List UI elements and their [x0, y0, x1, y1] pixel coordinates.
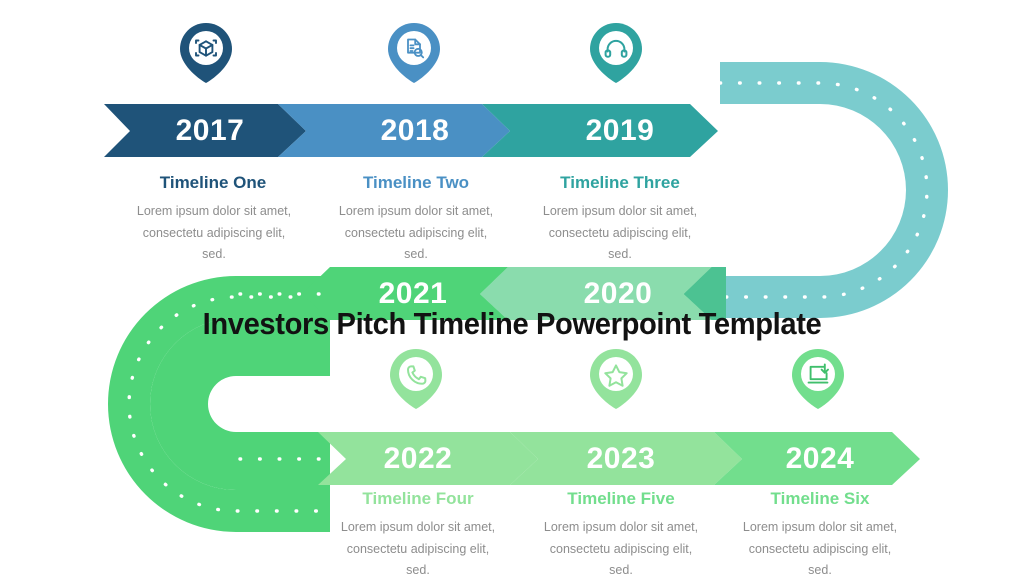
heading-timeline-six: Timeline Six	[722, 489, 918, 509]
pin-marker-2024[interactable]	[790, 348, 846, 410]
pin-marker-2023[interactable]	[588, 348, 644, 410]
heading-timeline-two: Timeline Two	[318, 173, 514, 193]
year-label-2022: 2022	[353, 442, 483, 476]
year-label-2017: 2017	[145, 114, 275, 148]
year-label-2019: 2019	[555, 114, 685, 148]
description-timeline-six: Lorem ipsum dolor sit amet, consectetu a…	[736, 517, 904, 582]
year-label-2023: 2023	[556, 442, 686, 476]
pin-marker-2019[interactable]	[588, 22, 644, 84]
year-label-2024: 2024	[755, 442, 885, 476]
pin-inner-circle	[399, 357, 433, 391]
page-title: Investors Pitch Timeline Powerpoint Temp…	[31, 306, 994, 342]
heading-timeline-one: Timeline One	[115, 173, 311, 193]
heading-timeline-four: Timeline Four	[320, 489, 516, 509]
pin-inner-circle	[801, 357, 835, 391]
heading-timeline-three: Timeline Three	[522, 173, 718, 193]
description-timeline-five: Lorem ipsum dolor sit amet, consectetu a…	[537, 517, 705, 582]
description-timeline-four: Lorem ipsum dolor sit amet, consectetu a…	[334, 517, 502, 582]
pin-marker-2022[interactable]	[388, 348, 444, 410]
pin-inner-circle	[599, 31, 633, 65]
pin-marker-2018[interactable]	[386, 22, 442, 84]
year-label-2018: 2018	[350, 114, 480, 148]
description-timeline-two: Lorem ipsum dolor sit amet, consectetu a…	[332, 201, 500, 266]
description-timeline-three: Lorem ipsum dolor sit amet, consectetu a…	[536, 201, 704, 266]
pin-inner-circle	[599, 357, 633, 391]
heading-timeline-five: Timeline Five	[523, 489, 719, 509]
description-timeline-one: Lorem ipsum dolor sit amet, consectetu a…	[130, 201, 298, 266]
pin-marker-2017[interactable]	[178, 22, 234, 84]
timeline-infographic: 2017 2018 2019 2021 2020 2022 2023 2024 …	[0, 0, 1024, 576]
